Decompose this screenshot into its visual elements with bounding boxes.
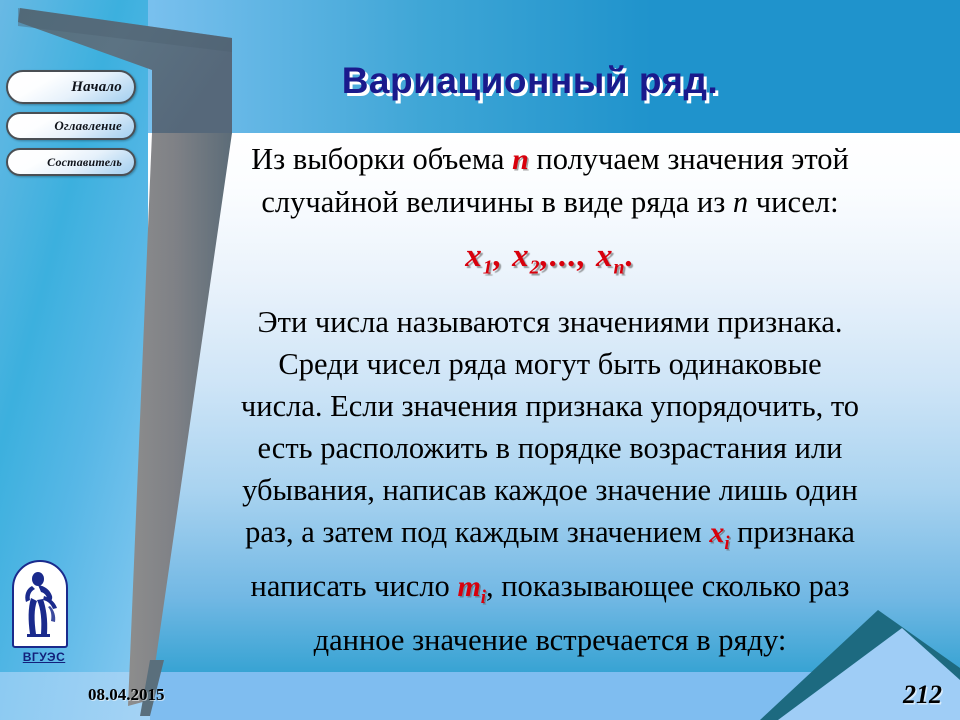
formula-dots: ,..., — [541, 238, 587, 274]
symbol-xi: xi — [709, 516, 729, 549]
body-paragraph-1: Из выборки объема n получаем значения эт… — [150, 138, 950, 181]
formula-sub3: n — [614, 257, 626, 279]
body-p1-text-a: Из выборки объема — [251, 142, 512, 176]
body-paragraph-3: Эти числа называются значениями признака… — [150, 301, 950, 343]
symbol-n-1: n — [512, 143, 529, 176]
symbol-xi-base: x — [709, 516, 724, 549]
body-p1-text-b: получаем значения этой — [529, 142, 849, 176]
slide-body: Из выборки объема n получаем значения эт… — [150, 138, 950, 661]
body-paragraph-8: раз, а затем под каждым значением xi при… — [150, 511, 950, 565]
formula-sub1: 1 — [483, 257, 494, 279]
spacer-below-formula — [150, 292, 950, 301]
vgues-arch-emblem-icon — [12, 560, 68, 648]
formula-x3: x — [596, 238, 614, 274]
formula-sub2: 2 — [530, 257, 541, 279]
slide-root: Начало Оглавление Составитель Вариационн… — [0, 0, 960, 720]
body-paragraph-4: Среди чисел ряда могут быть одинаковые — [150, 343, 950, 385]
vgues-figure-glyph — [14, 562, 68, 648]
body-p8-text-b: признака — [730, 515, 855, 549]
slide-date: 08.04.2015 — [88, 685, 165, 705]
nav-button-author-label: Составитель — [47, 155, 122, 170]
logo-label: ВГУЭС — [12, 650, 76, 664]
body-paragraph-10: данное значение встречается в ряду: — [150, 619, 950, 661]
symbol-mi: mi — [457, 570, 486, 603]
body-p9-text-b: , показывающее сколько раз — [486, 569, 850, 603]
body-p9-text-a: написать число — [251, 569, 458, 603]
symbol-n-2: n — [733, 185, 748, 219]
formula-series: x1, x2,..., xn. — [150, 232, 950, 292]
body-paragraph-9: написать число mi, показывающее сколько … — [150, 565, 950, 619]
nav-button-author[interactable]: Составитель — [6, 148, 136, 176]
nav-button-home[interactable]: Начало — [6, 70, 136, 104]
body-paragraph-7: убывания, написав каждое значение лишь о… — [150, 469, 950, 511]
formula-x1: x — [465, 238, 483, 274]
nav-button-home-label: Начало — [71, 79, 122, 96]
body-p2-text-b: чисел: — [748, 185, 838, 219]
formula-x2: x — [512, 238, 530, 274]
body-p8-text-a: раз, а затем под каждым значением — [245, 515, 709, 549]
body-p2-text-a: случайной величины в виде ряда из — [261, 185, 733, 219]
body-paragraph-2: случайной величины в виде ряда из n чисе… — [150, 181, 950, 223]
slide-page-number: 212 — [903, 680, 942, 710]
logo-block: ВГУЭС — [12, 560, 76, 664]
spacer-above-formula — [150, 223, 950, 232]
symbol-mi-base: m — [457, 570, 480, 603]
formula-period: . — [626, 238, 635, 274]
body-paragraph-6: есть расположить в порядке возрастания и… — [150, 427, 950, 469]
slide-title: Вариационный ряд. — [150, 60, 910, 102]
nav-button-contents[interactable]: Оглавление — [6, 112, 136, 140]
nav-button-contents-label: Оглавление — [54, 118, 122, 134]
body-paragraph-5: числа. Если значения признака упорядочит… — [150, 385, 950, 427]
navigation-buttons: Начало Оглавление Составитель — [6, 70, 136, 184]
